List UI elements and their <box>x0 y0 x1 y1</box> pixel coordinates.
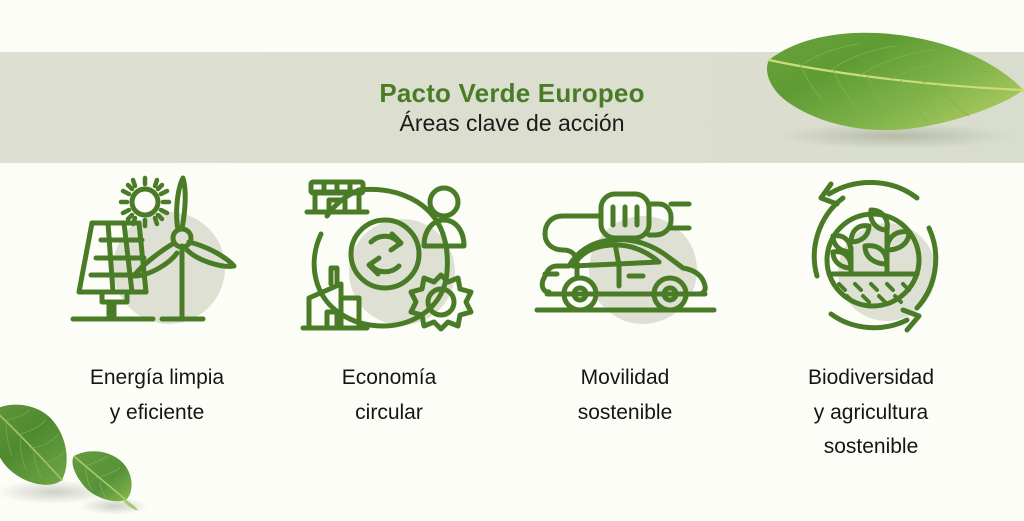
page-title: Pacto Verde Europeo <box>379 79 644 108</box>
infographic-canvas: Pacto Verde Europeo Áreas clave de acció… <box>0 0 1024 521</box>
card-label-biodiversidad: Biodiversidad y agricultura sostenible <box>808 361 934 465</box>
card-economia-circular[interactable]: Economía circular <box>269 172 509 430</box>
card-biodiversidad[interactable]: Biodiversidad y agricultura sostenible <box>751 172 991 465</box>
electric-car-plug-icon <box>533 172 718 342</box>
key-areas-row: Energía limpia y eficiente <box>0 172 1024 502</box>
circular-economy-icon <box>297 172 482 342</box>
page-subtitle: Áreas clave de acción <box>399 111 624 136</box>
header-banner: Pacto Verde Europeo Áreas clave de acció… <box>0 52 1024 163</box>
solar-panel-wind-turbine-icon <box>65 172 250 342</box>
card-label-energia-limpia: Energía limpia y eficiente <box>90 361 224 430</box>
card-icon-wrapper <box>65 172 250 342</box>
card-icon-wrapper <box>297 172 482 342</box>
card-energia-limpia[interactable]: Energía limpia y eficiente <box>37 172 277 430</box>
card-label-movilidad-sostenible: Movilidad sostenible <box>578 361 673 430</box>
card-movilidad-sostenible[interactable]: Movilidad sostenible <box>505 172 745 430</box>
card-icon-wrapper <box>779 172 964 342</box>
card-label-economia-circular: Economía circular <box>342 361 437 430</box>
card-icon-wrapper <box>533 172 718 342</box>
sprouts-soil-cycle-icon <box>779 172 964 342</box>
